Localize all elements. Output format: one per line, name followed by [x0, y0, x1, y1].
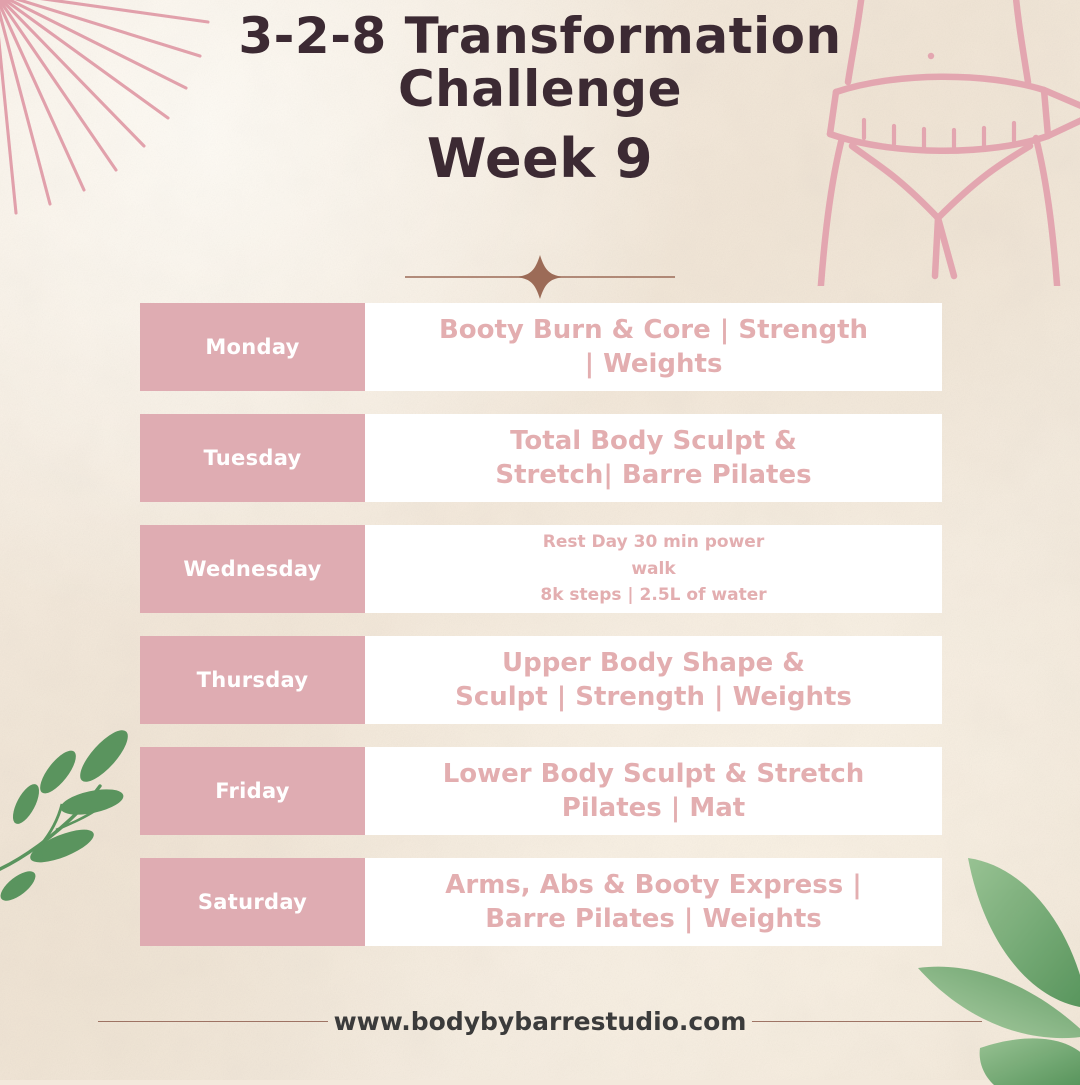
activity-line: Arms, Abs & Booty Express | — [445, 868, 862, 902]
day-cell-saturday: Saturday — [140, 858, 365, 946]
activity-line: Stretch| Barre Pilates — [495, 458, 811, 492]
activity-cell-saturday: Arms, Abs & Booty Express |Barre Pilates… — [365, 858, 942, 946]
website-url[interactable]: www.bodybybarrestudio.com — [328, 1007, 753, 1036]
activity-cell-wednesday: Rest Day 30 min powerwalk8k steps | 2.5L… — [365, 525, 942, 613]
activity-line: Total Body Sculpt & — [510, 424, 797, 458]
activity-line: walk — [631, 556, 675, 582]
activity-cell-tuesday: Total Body Sculpt &Stretch| Barre Pilate… — [365, 414, 942, 502]
activity-line: | Weights — [585, 347, 723, 381]
footer: www.bodybybarrestudio.com — [0, 998, 1080, 1044]
schedule-row: MondayBooty Burn & Core | Strength| Weig… — [140, 303, 942, 391]
activity-line: Pilates | Mat — [562, 791, 745, 825]
activity-cell-thursday: Upper Body Shape &Sculpt | Strength | We… — [365, 636, 942, 724]
day-label: Tuesday — [203, 446, 301, 470]
activity-cell-friday: Lower Body Sculpt & StretchPilates | Mat — [365, 747, 942, 835]
week-number-title: Week 9 — [0, 130, 1080, 187]
schedule-table: MondayBooty Burn & Core | Strength| Weig… — [140, 303, 942, 969]
footer-rule-left — [98, 1021, 328, 1022]
day-label: Monday — [205, 335, 299, 359]
day-cell-friday: Friday — [140, 747, 365, 835]
footer-rule-right — [752, 1021, 982, 1022]
activity-line: 8k steps | 2.5L of water — [540, 582, 766, 608]
day-cell-monday: Monday — [140, 303, 365, 391]
day-label: Thursday — [197, 668, 309, 692]
activity-line: Upper Body Shape & — [502, 646, 805, 680]
activity-line: Lower Body Sculpt & Stretch — [443, 757, 865, 791]
activity-line: Sculpt | Strength | Weights — [455, 680, 852, 714]
day-label: Wednesday — [183, 557, 321, 581]
activity-line: Rest Day 30 min power — [543, 529, 764, 555]
day-cell-wednesday: Wednesday — [140, 525, 365, 613]
day-cell-tuesday: Tuesday — [140, 414, 365, 502]
header: 3-2-8 Transformation Challenge Week 9 — [0, 10, 1080, 187]
title-line-1: 3-2-8 Transformation — [0, 10, 1080, 63]
activity-line: Booty Burn & Core | Strength — [439, 313, 868, 347]
schedule-row: TuesdayTotal Body Sculpt &Stretch| Barre… — [140, 414, 942, 502]
day-label: Friday — [215, 779, 290, 803]
schedule-row: ThursdayUpper Body Shape &Sculpt | Stren… — [140, 636, 942, 724]
title-line-2: Challenge — [0, 63, 1080, 116]
activity-line: Barre Pilates | Weights — [485, 902, 822, 936]
schedule-row: FridayLower Body Sculpt & StretchPilates… — [140, 747, 942, 835]
schedule-row: WednesdayRest Day 30 min powerwalk8k ste… — [140, 525, 942, 613]
day-cell-thursday: Thursday — [140, 636, 365, 724]
schedule-row: SaturdayArms, Abs & Booty Express |Barre… — [140, 858, 942, 946]
four-point-star-sparkle-icon — [514, 255, 566, 299]
day-label: Saturday — [198, 890, 307, 914]
activity-cell-monday: Booty Burn & Core | Strength| Weights — [365, 303, 942, 391]
divider-ornament — [0, 255, 1080, 299]
